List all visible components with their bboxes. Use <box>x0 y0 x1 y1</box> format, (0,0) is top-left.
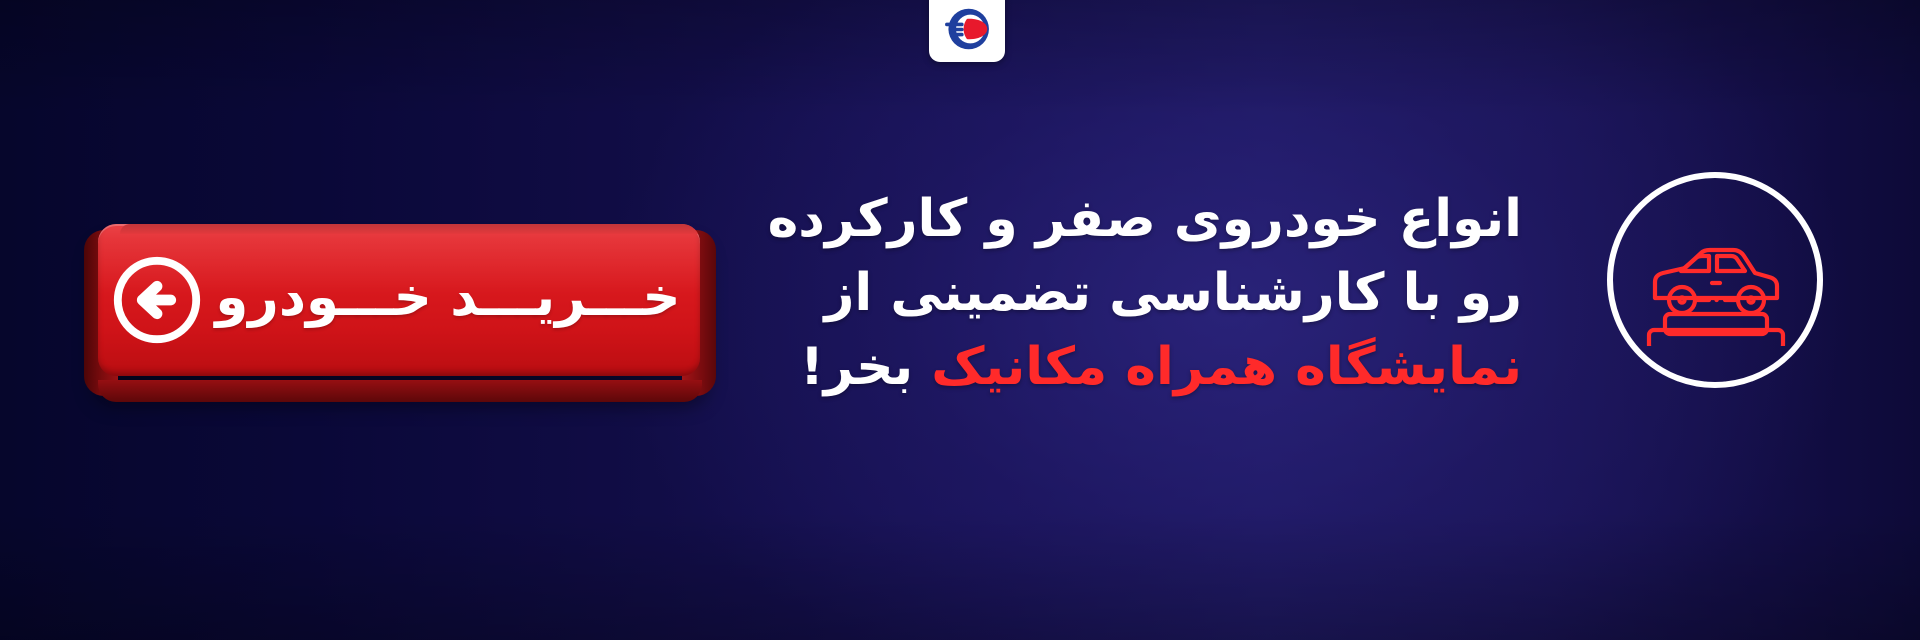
headline-line-2: رو با کارشناسی تضمینی از <box>782 256 1522 330</box>
car-badge <box>1597 162 1833 398</box>
headline-accent-text: نمایشگاه همراه مکانیک <box>931 337 1522 397</box>
banner-root: خـــریـــد خـــودرو انواع خودروی صفر و ک… <box>0 0 1920 640</box>
button-bevel-top <box>120 224 700 234</box>
headline-tail-text: بخر! <box>800 337 931 397</box>
button-face[interactable]: خـــریـــد خـــودرو <box>98 224 700 376</box>
brand-logo-icon <box>940 2 994 56</box>
headline-line-1: انواع خودروی صفر و کارکرده <box>782 182 1522 256</box>
arrow-left-circle-icon <box>102 251 212 349</box>
buy-car-button[interactable]: خـــریـــد خـــودرو <box>84 224 716 402</box>
buy-car-button-label: خـــریـــد خـــودرو <box>212 271 700 330</box>
headline: انواع خودروی صفر و کارکرده رو با کارشناس… <box>782 182 1522 404</box>
car-on-podium-icon <box>1641 226 1791 346</box>
headline-line-3: نمایشگاه همراه مکانیک بخر! <box>782 330 1522 404</box>
brand-logo[interactable] <box>929 0 1005 62</box>
button-bevel-bottom <box>98 380 702 402</box>
arrow-left-circle-glyph <box>108 251 206 349</box>
